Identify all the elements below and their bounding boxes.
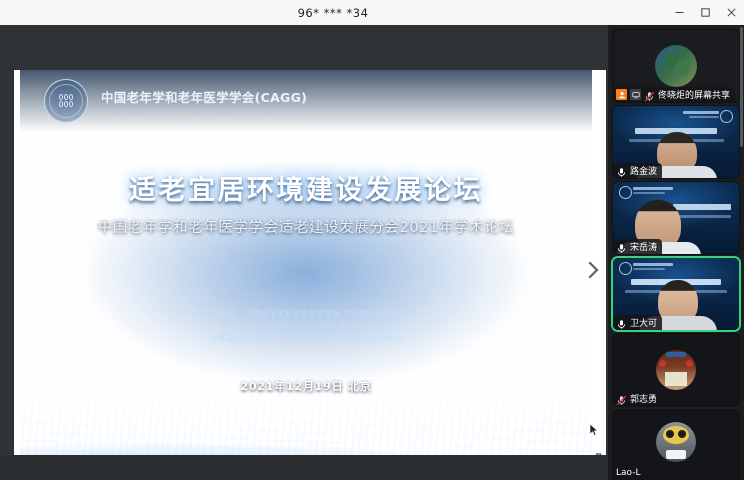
- org-name-cn: 中国老年学和老年医学学会(CAGG): [101, 87, 308, 106]
- tile-participant-name: 郭志勇: [630, 392, 657, 405]
- chevron-right-icon[interactable]: [582, 256, 604, 284]
- tile-label: 佟晓炬的屏幕共享: [613, 87, 735, 102]
- tile-label: 郭志勇: [613, 391, 662, 406]
- mic-on-icon: [616, 165, 627, 176]
- tile-label: 宋岳涛: [613, 239, 662, 254]
- mouse-pointer-icon: [590, 423, 598, 435]
- minimize-button[interactable]: [666, 0, 692, 25]
- tile-participant-name: 佟晓炬的屏幕共享: [658, 88, 730, 101]
- organizer-line: 承办单位：中国建筑科学研究院有限公司认证中心: [20, 320, 592, 332]
- window-controls: [666, 0, 744, 25]
- mic-muted-icon: [616, 393, 627, 404]
- tile-label: 卫大可: [613, 315, 662, 330]
- window-titlebar: 96* *** *34: [0, 0, 744, 26]
- cagg-seal-core: [59, 94, 74, 107]
- avatar: [656, 422, 696, 462]
- meeting-id-title: 96* *** *34: [0, 6, 666, 20]
- slide-date-location: 2021年12月19日 北京: [20, 378, 592, 394]
- mic-on-icon: [616, 241, 627, 252]
- participant-tile-5[interactable]: 郭志勇: [613, 334, 739, 406]
- participant-tile-3[interactable]: 宋岳涛: [613, 182, 739, 254]
- tile-label: 路金波: [613, 163, 662, 178]
- tile-participant-name: 卫大可: [630, 316, 657, 329]
- maximize-button[interactable]: [692, 0, 718, 25]
- participant-icon: [616, 89, 627, 100]
- slide-main-title: 适老宜居环境建设发展论坛: [20, 168, 592, 207]
- zoom-meeting-window: 96* *** *34: [0, 0, 744, 480]
- cagg-titles: 中国老年学和老年医学学会(CAGG) CHINA ASSOCIATION OF …: [101, 87, 308, 115]
- participant-rail[interactable]: 佟晓炬的屏幕共享 路金波: [608, 25, 744, 480]
- org-name-en: CHINA ASSOCIATION OF GERONTOLOGY AND GER…: [101, 109, 308, 115]
- shared-content-frame: 中国老年学和老年医学学会(CAGG) CHINA ASSOCIATION OF …: [14, 70, 606, 455]
- resize-handle-icon[interactable]: [588, 452, 602, 455]
- tile-participant-name: Lao-L: [616, 468, 640, 478]
- screen-share-icon: [630, 89, 641, 100]
- presentation-slide: 中国老年学和老年医学学会(CAGG) CHINA ASSOCIATION OF …: [20, 70, 592, 455]
- participant-tile-screenshare[interactable]: 佟晓炬的屏幕共享: [613, 30, 739, 102]
- avatar: [656, 350, 696, 390]
- participant-tile-4-active[interactable]: 卫大可: [613, 258, 739, 330]
- rail-scrollbar[interactable]: [740, 27, 743, 147]
- close-button[interactable]: [718, 0, 744, 25]
- tile-participant-name: 宋岳涛: [630, 240, 657, 253]
- tile-participant-name: 路金波: [630, 164, 657, 177]
- participant-tile-6[interactable]: Lao-L: [613, 410, 739, 480]
- organizer-line: 中国建筑技术集团有限公司生态宜居环境建设研究中心: [20, 333, 592, 345]
- slide-header: 中国老年学和老年医学学会(CAGG) CHINA ASSOCIATION OF …: [20, 70, 592, 132]
- screenshare-thumbnail: [655, 45, 697, 87]
- mic-muted-icon: [644, 89, 655, 100]
- mic-on-icon: [616, 317, 627, 328]
- cagg-seal-icon: [44, 79, 88, 123]
- tile-label: Lao-L: [613, 465, 645, 480]
- participant-tile-2[interactable]: 路金波: [613, 106, 739, 178]
- organizer-line: 主办单位：中国老年学和老年医学学会 适老建设发展分会: [20, 308, 592, 320]
- slide-organizers: 主办单位：中国老年学和老年医学学会 适老建设发展分会 承办单位：中国建筑科学研究…: [20, 308, 592, 345]
- shared-screen-stage[interactable]: 中国老年学和老年医学学会(CAGG) CHINA ASSOCIATION OF …: [0, 25, 608, 455]
- slide-sub-title: 中国老年学和老年医学学会适老建设发展分会2021年学术论坛: [20, 216, 592, 237]
